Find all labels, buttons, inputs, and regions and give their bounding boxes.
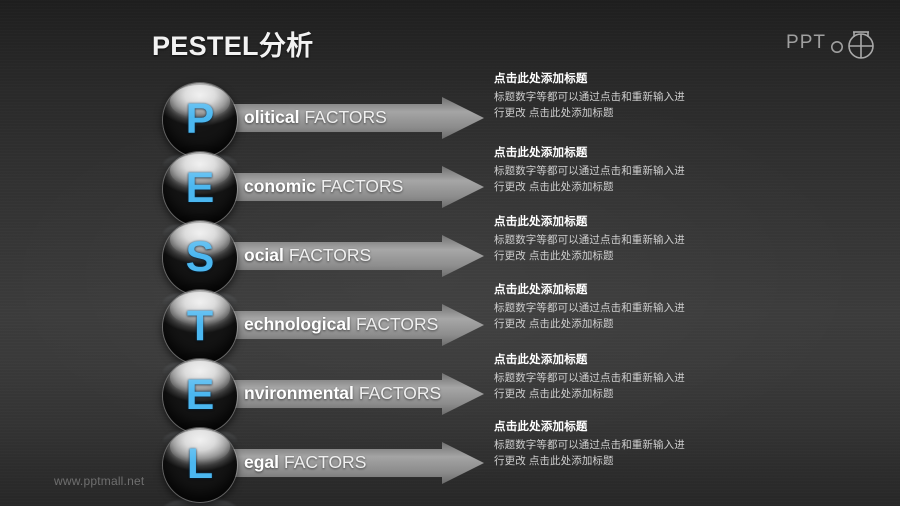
sphere-letter: T — [163, 290, 237, 364]
note-title: 点击此处添加标题 — [494, 420, 709, 435]
note-body: 标题数字等都可以通过点击和重新输入进行更改 点击此处添加标题 — [494, 438, 694, 469]
arrow-label-tail: FACTORS — [321, 176, 403, 196]
pestel-slide: PESTEL分析 PPT — [0, 0, 900, 506]
note-block[interactable]: 点击此处添加标题 标题数字等都可以通过点击和重新输入进行更改 点击此处添加标题 — [494, 72, 709, 121]
note-title: 点击此处添加标题 — [494, 146, 709, 161]
arrow-label-tail: FACTORS — [304, 107, 386, 127]
sphere-letter: S — [163, 221, 237, 295]
pestel-row: oliticalFACTORS P 点击此处添加标题 标题数字等都可以通过点击和… — [0, 83, 900, 152]
pestel-row: nvironmentalFACTORS E 点击此处添加标题 标题数字等都可以通… — [0, 359, 900, 428]
note-block[interactable]: 点击此处添加标题 标题数字等都可以通过点击和重新输入进行更改 点击此处添加标题 — [494, 146, 709, 195]
pptmall-globe-icon — [828, 26, 884, 60]
arrow-label-lead: egal — [244, 452, 279, 472]
arrow-label-lead: olitical — [244, 107, 299, 127]
watermark: www.pptmall.net — [54, 474, 144, 488]
arrow-label: conomicFACTORS — [244, 176, 403, 197]
note-body: 标题数字等都可以通过点击和重新输入进行更改 点击此处添加标题 — [494, 90, 694, 121]
letter-sphere[interactable]: L — [163, 428, 237, 502]
arrow-shape[interactable]: egalFACTORS — [196, 442, 484, 484]
note-block[interactable]: 点击此处添加标题 标题数字等都可以通过点击和重新输入进行更改 点击此处添加标题 — [494, 283, 709, 332]
note-block[interactable]: 点击此处添加标题 标题数字等都可以通过点击和重新输入进行更改 点击此处添加标题 — [494, 353, 709, 402]
note-body: 标题数字等都可以通过点击和重新输入进行更改 点击此处添加标题 — [494, 233, 694, 264]
sphere-letter: L — [163, 428, 237, 502]
note-title: 点击此处添加标题 — [494, 215, 709, 230]
note-title: 点击此处添加标题 — [494, 353, 709, 368]
note-body: 标题数字等都可以通过点击和重新输入进行更改 点击此处添加标题 — [494, 164, 694, 195]
arrow-label-tail: FACTORS — [356, 314, 438, 334]
note-body: 标题数字等都可以通过点击和重新输入进行更改 点击此处添加标题 — [494, 371, 694, 402]
arrow-shape[interactable]: oliticalFACTORS — [196, 97, 484, 139]
arrow-shape[interactable]: echnologicalFACTORS — [196, 304, 484, 346]
pestel-row: conomicFACTORS E 点击此处添加标题 标题数字等都可以通过点击和重… — [0, 152, 900, 221]
pestel-row: ocialFACTORS S 点击此处添加标题 标题数字等都可以通过点击和重新输… — [0, 221, 900, 290]
brand-logo: PPT — [786, 26, 884, 60]
arrow-label-tail: FACTORS — [359, 383, 441, 403]
note-body: 标题数字等都可以通过点击和重新输入进行更改 点击此处添加标题 — [494, 301, 694, 332]
arrow-label: nvironmentalFACTORS — [244, 383, 441, 404]
arrow-label: echnologicalFACTORS — [244, 314, 438, 335]
sphere-letter: E — [163, 152, 237, 226]
note-title: 点击此处添加标题 — [494, 72, 709, 87]
arrow-label-lead: ocial — [244, 245, 284, 265]
letter-sphere[interactable]: E — [163, 359, 237, 433]
letter-sphere[interactable]: E — [163, 152, 237, 226]
arrow-label-lead: nvironmental — [244, 383, 354, 403]
arrow-label: ocialFACTORS — [244, 245, 371, 266]
arrow-shape[interactable]: nvironmentalFACTORS — [196, 373, 484, 415]
arrow-label-tail: FACTORS — [289, 245, 371, 265]
arrow-label: oliticalFACTORS — [244, 107, 387, 128]
sphere-letter: P — [163, 83, 237, 157]
arrow-label: egalFACTORS — [244, 452, 366, 473]
brand-wordmark: PPT — [786, 32, 826, 54]
arrow-label-lead: conomic — [244, 176, 316, 196]
letter-sphere[interactable]: S — [163, 221, 237, 295]
arrow-label-lead: echnological — [244, 314, 351, 334]
letter-sphere[interactable]: P — [163, 83, 237, 157]
arrow-shape[interactable]: ocialFACTORS — [196, 235, 484, 277]
note-block[interactable]: 点击此处添加标题 标题数字等都可以通过点击和重新输入进行更改 点击此处添加标题 — [494, 215, 709, 264]
letter-sphere[interactable]: T — [163, 290, 237, 364]
note-title: 点击此处添加标题 — [494, 283, 709, 298]
page-title: PESTEL分析 — [152, 24, 313, 63]
note-block[interactable]: 点击此处添加标题 标题数字等都可以通过点击和重新输入进行更改 点击此处添加标题 — [494, 420, 709, 469]
sphere-letter: E — [163, 359, 237, 433]
pestel-row: echnologicalFACTORS T 点击此处添加标题 标题数字等都可以通… — [0, 290, 900, 359]
arrow-shape[interactable]: conomicFACTORS — [196, 166, 484, 208]
arrow-label-tail: FACTORS — [284, 452, 366, 472]
